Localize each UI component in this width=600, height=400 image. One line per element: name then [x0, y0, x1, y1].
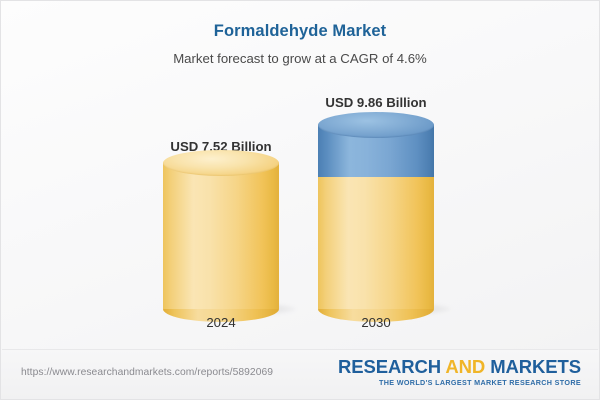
chart-plot-area: USD 7.52 Billion 2024 USD 9.86 Billion — [1, 89, 599, 339]
logo-word-research: RESEARCH — [338, 356, 441, 377]
bar-value-label: USD 9.86 Billion — [291, 95, 461, 111]
bar-top-cap — [163, 150, 279, 176]
logo-word-and: AND — [445, 356, 485, 377]
bar-group-2030: USD 9.86 Billion 2030 — [291, 89, 461, 339]
bar-top-cap — [318, 112, 434, 138]
bar-segment-growth — [318, 125, 434, 177]
logo-word-markets: MARKETS — [490, 356, 581, 377]
chart-card: Formaldehyde Market Market forecast to g… — [0, 0, 600, 400]
axis-label-2030: 2030 — [291, 315, 461, 330]
bar-group-2024: USD 7.52 Billion 2024 — [136, 89, 306, 339]
chart-subtitle: Market forecast to grow at a CAGR of 4.6… — [1, 50, 599, 67]
page-title: Formaldehyde Market — [1, 21, 599, 41]
bar-body — [318, 177, 434, 309]
bar-cylinder-2030 — [318, 125, 434, 309]
research-and-markets-logo[interactable]: RESEARCH AND MARKETS THE WORLD'S LARGEST… — [338, 357, 581, 387]
logo-wordmark: RESEARCH AND MARKETS — [338, 357, 581, 377]
bar-segment-base — [163, 163, 279, 309]
bar-segment-base — [318, 177, 434, 309]
report-url[interactable]: https://www.researchandmarkets.com/repor… — [21, 367, 273, 378]
logo-tagline: THE WORLD'S LARGEST MARKET RESEARCH STOR… — [338, 378, 581, 387]
bar-cylinder-2024 — [163, 163, 279, 309]
axis-label-2024: 2024 — [136, 315, 306, 330]
chart-footer: https://www.researchandmarkets.com/repor… — [1, 350, 599, 399]
bar-body — [163, 163, 279, 309]
chart-header: Formaldehyde Market Market forecast to g… — [1, 21, 599, 67]
